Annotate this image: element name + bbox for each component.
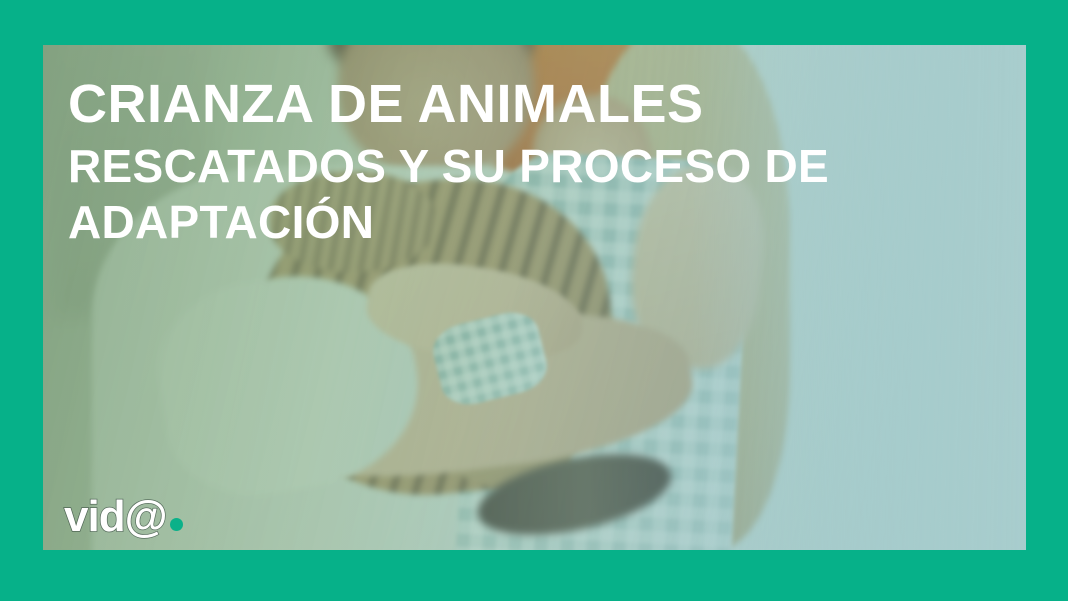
hero-headline-block: CRIANZA DE ANIMALES RESCATADOS Y SU PROC… — [68, 74, 998, 250]
brand-logo[interactable]: vid@ — [64, 495, 183, 539]
page-title: CRIANZA DE ANIMALES — [68, 74, 998, 134]
brand-wordmark: vid@ — [64, 495, 166, 539]
article-hero-banner: CRIANZA DE ANIMALES RESCATADOS Y SU PROC… — [0, 0, 1068, 601]
page-subtitle: RESCATADOS Y SU PROCESO DE ADAPTACIÓN — [68, 138, 998, 250]
brand-dot-icon — [170, 518, 183, 531]
